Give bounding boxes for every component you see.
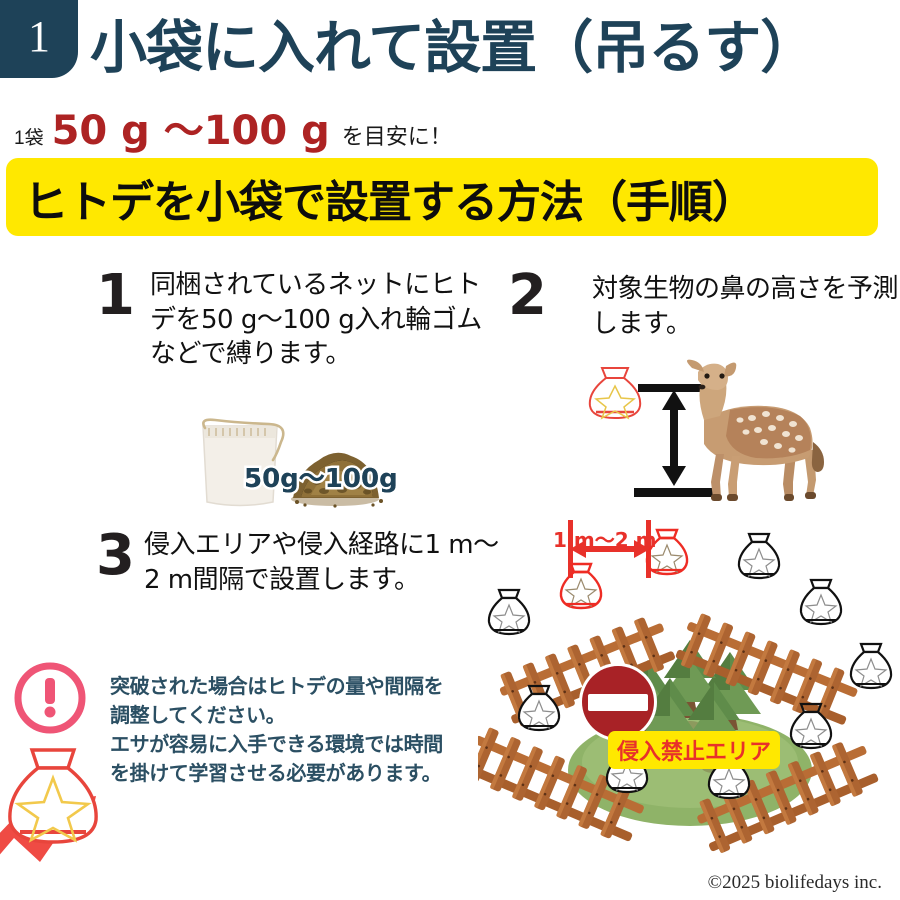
bag-marker-top-right: [739, 534, 779, 578]
header: 1 小袋に入れて設置（吊るす）: [0, 0, 900, 86]
bag-weight-overlay: 50g〜100g: [244, 458, 398, 495]
bag-marker-right-far: [851, 644, 891, 688]
dosage-prefix: 1袋: [14, 123, 44, 150]
step-3-text: 侵入エリアや侵入経路に1 m〜2 m間隔で設置します。: [144, 528, 504, 597]
spacing-label: 1 m〜2 m: [553, 524, 656, 553]
fence-perimeter-diagram: [478, 520, 900, 880]
deer-height-illustration: [580, 358, 890, 518]
no-entry-area-badge: 侵入禁止エリア: [608, 731, 780, 769]
dosage-amount: 50 g 〜100 g: [52, 98, 330, 156]
step-3-number: 3: [96, 528, 135, 584]
dosage-suffix: を目安に！: [342, 119, 452, 151]
infographic-page: 1 小袋に入れて設置（吊るす） 1袋 50 g 〜100 g を目安に！ ヒトデ…: [0, 0, 900, 900]
step-1-text: 同梱されているネットにヒトデを50 g〜100 g入れ輪ゴムなどで縛ります。: [150, 268, 500, 372]
page-title: 小袋に入れて設置（吊るす）: [90, 2, 816, 84]
deer-figure: [687, 360, 824, 501]
step-1-number: 1: [96, 268, 135, 324]
warning-icon-cluster: [0, 650, 110, 900]
section-banner-label: ヒトデを小袋で設置する方法（手順）: [24, 166, 755, 230]
mesh-bag-and-powder-illustration: [185, 398, 415, 513]
step-2-text: 対象生物の鼻の高さを予測します。: [592, 272, 900, 341]
dosage-line: 1袋 50 g 〜100 g を目安に！: [14, 98, 452, 156]
starfish-bag-icon-outline: [10, 750, 96, 842]
header-step-badge: 1: [0, 0, 78, 78]
bag-marker-left-upper: [489, 590, 529, 634]
starfish-glyph: [596, 386, 634, 418]
no-entry-sign-icon: [579, 663, 657, 741]
bag-marker-right-upper: [801, 580, 841, 624]
exclamation-circle-icon: [18, 666, 82, 730]
step-2-number: 2: [508, 268, 547, 324]
warning-text: 突破された場合はヒトデの量や間隔を調整してください。 エサが容易に入手できる環境…: [110, 672, 460, 788]
bag-marker-red-left: [561, 564, 601, 608]
section-banner: ヒトデを小袋で設置する方法（手順）: [6, 158, 878, 236]
copyright-text: ©2025 biolifedays inc.: [708, 872, 882, 894]
